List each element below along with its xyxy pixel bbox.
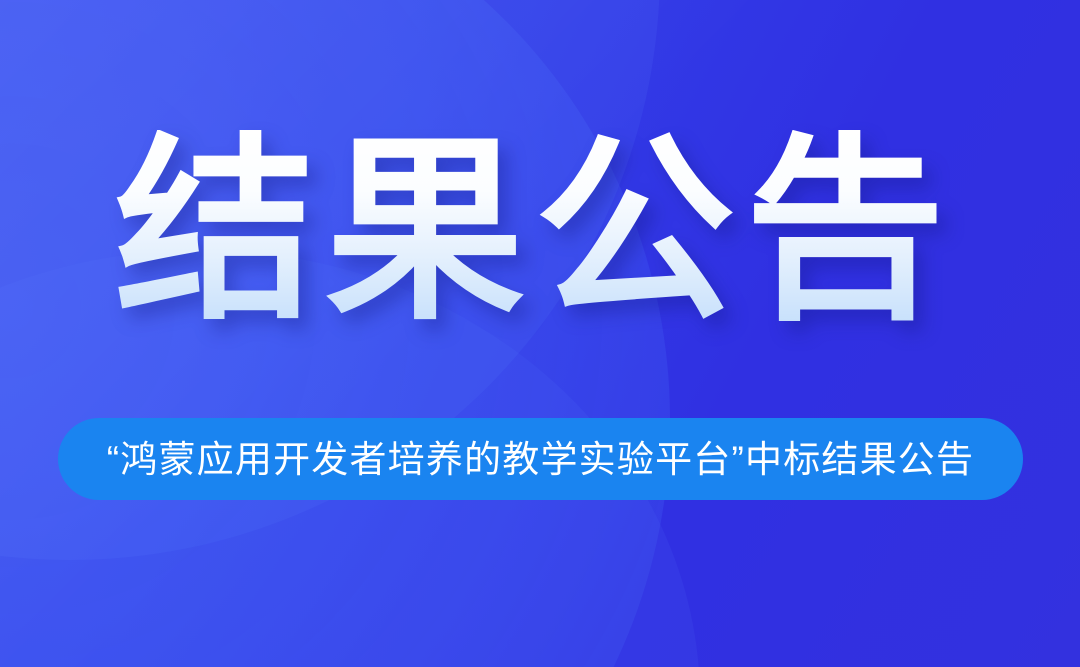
announcement-banner: 结果公告 “鸿蒙应用开发者培养的教学实验平台”中标结果公告 [0, 0, 1080, 667]
banner-headline: 结果公告 [115, 130, 965, 334]
subtitle-text: “鸿蒙应用开发者培养的教学实验平台”中标结果公告 [107, 441, 974, 478]
headline-container: 结果公告 [0, 130, 1080, 334]
subtitle-pill: “鸿蒙应用开发者培养的教学实验平台”中标结果公告 [58, 418, 1023, 500]
